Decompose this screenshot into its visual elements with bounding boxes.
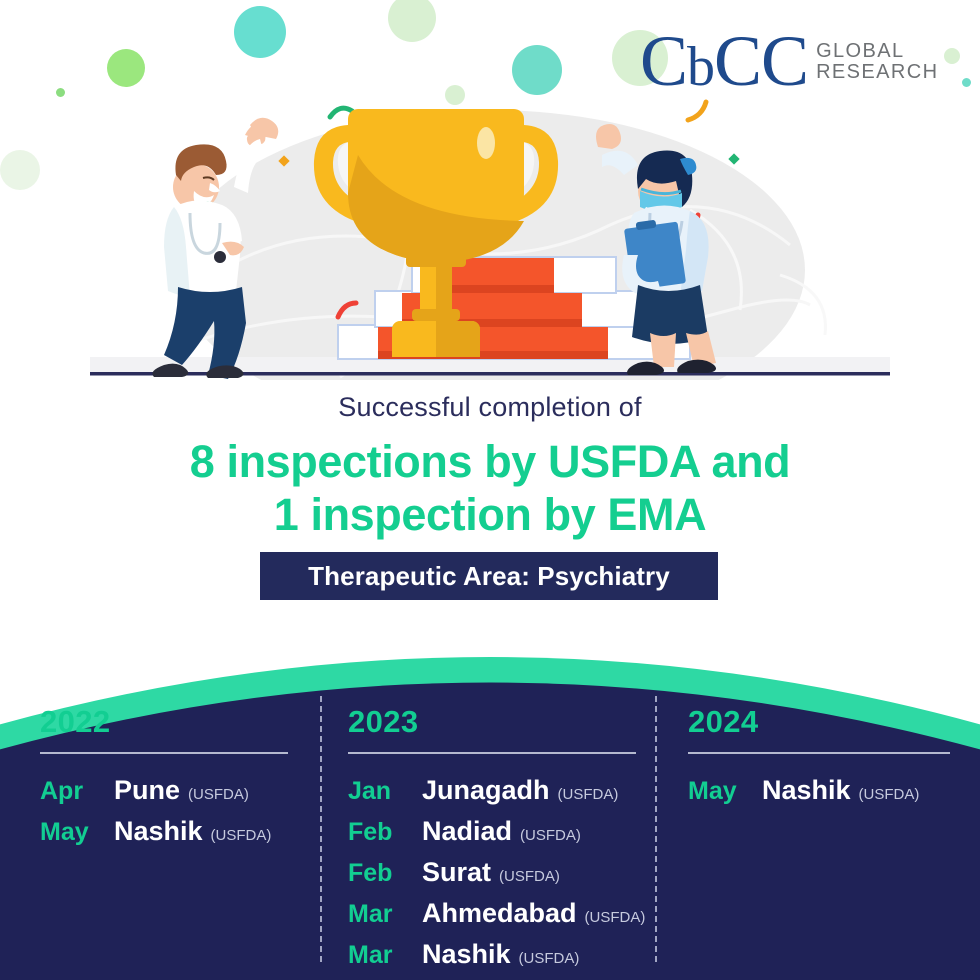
- entry-list-2022: Apr Pune (USFDA) May Nashik (USFDA): [40, 775, 288, 847]
- entry-agency: (USFDA): [558, 786, 619, 803]
- circle-green-left: [107, 49, 145, 87]
- year-column-2024: 2024 May Nashik (USFDA): [688, 704, 950, 816]
- entry-agency: (USFDA): [859, 786, 920, 803]
- entry-agency: (USFDA): [499, 868, 560, 885]
- logo-letter-cc: CC: [714, 21, 808, 101]
- year-column-2022: 2022 Apr Pune (USFDA) May Nashik (USFDA): [40, 704, 288, 857]
- entry-city: Nadiad: [422, 816, 512, 847]
- headline-subtitle: Successful completion of: [0, 392, 980, 423]
- entry-month: Mar: [348, 900, 422, 929]
- circle-pale-green-bottom-left: [0, 150, 40, 190]
- entry-month: Feb: [348, 859, 422, 888]
- trophy-celebration-illustration: [90, 95, 890, 380]
- list-item: Mar Ahmedabad (USFDA): [348, 898, 636, 929]
- entry-agency: (USFDA): [585, 909, 646, 926]
- entry-month: Mar: [348, 941, 422, 970]
- logo-tagline-line2: RESEARCH: [816, 62, 938, 84]
- year-underline-2023: [348, 752, 636, 754]
- headline-line-1: 8 inspections by USFDA and: [0, 435, 980, 488]
- entry-list-2023: Jan Junagadh (USFDA) Feb Nadiad (USFDA) …: [348, 775, 636, 980]
- year-underline-2022: [40, 752, 288, 754]
- headline-block: Successful completion of 8 inspections b…: [0, 392, 980, 541]
- entry-city: Nashik: [762, 775, 851, 806]
- entry-agency: (USFDA): [520, 827, 581, 844]
- entry-month: Feb: [348, 818, 422, 847]
- headline-line-2: 1 inspection by EMA: [0, 488, 980, 541]
- circle-teal-top-left: [234, 6, 286, 58]
- entry-city: Surat: [422, 857, 491, 888]
- logo-letter-b: b: [687, 36, 714, 98]
- entry-month: Jan: [348, 777, 422, 806]
- entry-city: Junagadh: [422, 775, 550, 806]
- entry-agency: (USFDA): [519, 950, 580, 967]
- entry-city: Ahmedabad: [422, 898, 577, 929]
- circle-teal-center: [512, 45, 562, 95]
- headline-main: 8 inspections by USFDA and 1 inspection …: [0, 435, 980, 541]
- year-column-2023: 2023 Jan Junagadh (USFDA) Feb Nadiad (US…: [348, 704, 636, 980]
- logo-letter-c1: C: [640, 21, 687, 101]
- column-divider-2: [655, 696, 657, 962]
- circle-green-small-left: [56, 88, 65, 97]
- entry-month: Apr: [40, 777, 114, 806]
- list-item: Jan Junagadh (USFDA): [348, 775, 636, 806]
- entry-list-2024: May Nashik (USFDA): [688, 775, 950, 806]
- infographic-canvas: CbCC GLOBAL RESEARCH: [0, 0, 980, 980]
- entry-city: Pune: [114, 775, 180, 806]
- list-item: Apr Pune (USFDA): [40, 775, 288, 806]
- therapeutic-area-badge: Therapeutic Area: Psychiatry: [260, 552, 718, 600]
- entry-city: Nashik: [114, 816, 203, 847]
- logo-tagline: GLOBAL RESEARCH: [816, 41, 938, 84]
- circle-pale-green-top: [388, 0, 436, 42]
- year-underline-2024: [688, 752, 950, 754]
- list-item: Mar Nashik (USFDA): [348, 939, 636, 970]
- entry-city: Nashik: [422, 939, 511, 970]
- list-item: May Nashik (USFDA): [688, 775, 950, 806]
- therapeutic-area-label: Therapeutic Area: Psychiatry: [308, 561, 670, 592]
- entry-month: May: [688, 777, 762, 806]
- year-label-2022: 2022: [40, 704, 288, 740]
- column-divider-1: [320, 696, 322, 962]
- year-label-2024: 2024: [688, 704, 950, 740]
- year-label-2023: 2023: [348, 704, 636, 740]
- entry-agency: (USFDA): [211, 827, 272, 844]
- logo-wordmark: CbCC: [640, 28, 808, 94]
- cbcc-logo: CbCC GLOBAL RESEARCH: [640, 18, 966, 94]
- list-item: Feb Nadiad (USFDA): [348, 816, 636, 847]
- entry-agency: (USFDA): [188, 786, 249, 803]
- list-item: Feb Surat (USFDA): [348, 857, 636, 888]
- logo-tagline-line1: GLOBAL: [816, 41, 938, 63]
- list-item: May Nashik (USFDA): [40, 816, 288, 847]
- timeline-panel: 2022 Apr Pune (USFDA) May Nashik (USFDA): [0, 610, 980, 980]
- entry-month: May: [40, 818, 114, 847]
